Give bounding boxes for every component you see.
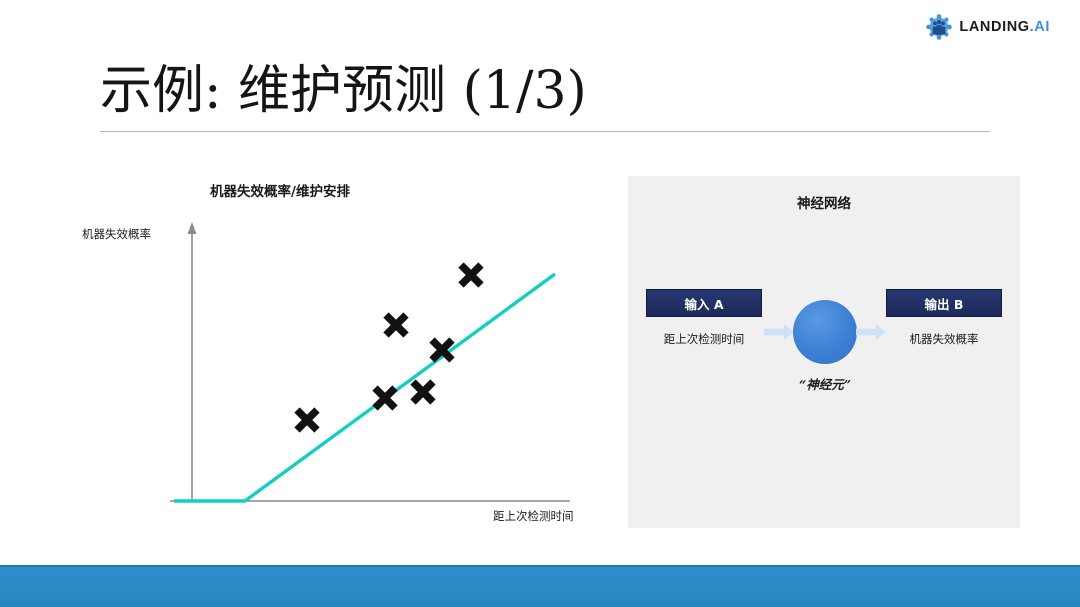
- neuron-circle: [793, 300, 857, 364]
- title-divider: [100, 131, 990, 132]
- chart-axes: [170, 222, 570, 502]
- page-title: 示例: 维护预测 (1/3): [100, 62, 587, 120]
- scatter-point: [461, 265, 481, 285]
- chart-trend-line: [174, 274, 555, 501]
- bottom-banner: [0, 565, 1080, 607]
- landing-ai-gear-icon: [926, 14, 952, 40]
- neural-network-panel: 神经网络 输入 A 距上次检测时间 “神经元” 输出 B 机器失效概率: [628, 176, 1020, 528]
- neuron-label: “神经元”: [760, 374, 890, 393]
- chart-plot-area: [70, 170, 630, 540]
- arrow-right-icon: [764, 324, 794, 340]
- brand-name-suffix: .AI: [1030, 19, 1050, 35]
- input-node-box: 输入 A: [646, 289, 762, 317]
- slide-canvas: LANDING.AI 示例: 维护预测 (1/3) 机器失效概率/维护安排 机器…: [0, 0, 1080, 607]
- output-node-box: 输出 B: [886, 289, 1002, 317]
- scatter-point: [375, 388, 395, 408]
- output-node-caption: 机器失效概率: [869, 331, 1019, 347]
- input-node-caption: 距上次检测时间: [629, 331, 779, 347]
- scatter-point: [413, 382, 433, 402]
- brand-name-main: LANDING: [959, 19, 1029, 35]
- brand-name: LANDING.AI: [959, 19, 1050, 35]
- neural-network-title: 神经网络: [628, 192, 1020, 212]
- failure-probability-chart: 机器失效概率/维护安排 机器失效概率 距上次检测时间: [70, 170, 630, 540]
- brand-logo: LANDING.AI: [926, 14, 1050, 40]
- scatter-point: [386, 315, 406, 335]
- scatter-point: [297, 410, 317, 430]
